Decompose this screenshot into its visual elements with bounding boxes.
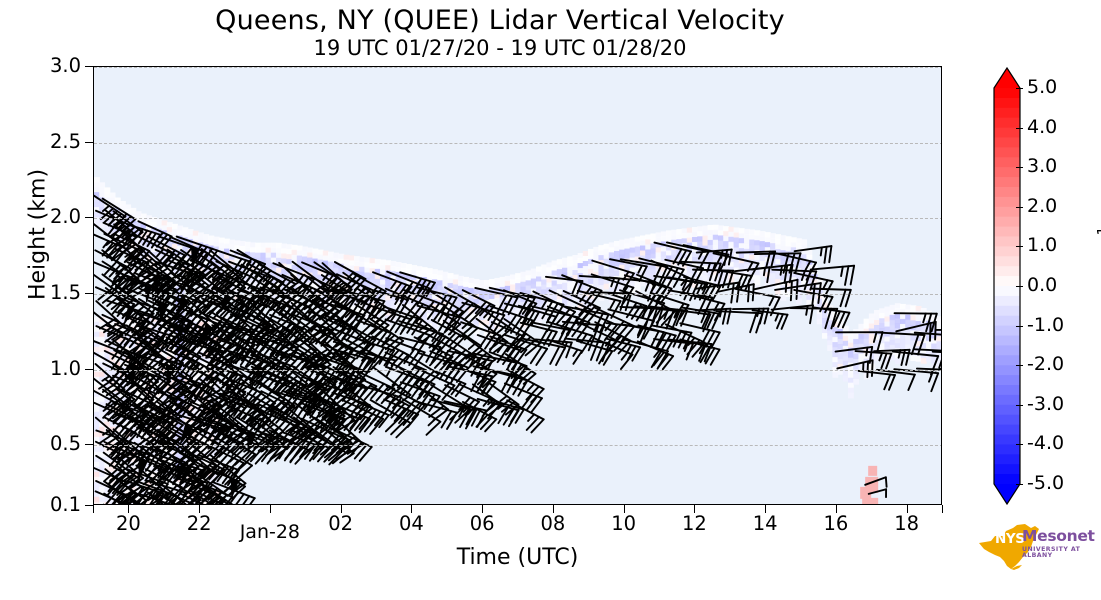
- colorbar-tick-label--5.0: -5.0: [1027, 472, 1079, 494]
- colorbar-tick-label-0.0: 0.0: [1027, 274, 1079, 296]
- gridline-y-2.5: [94, 143, 942, 144]
- y-tick-label-3.0: 3.0: [21, 54, 81, 77]
- colorbar-tick-label--1.0: -1.0: [1027, 314, 1079, 336]
- colorbar-tick-mark: [1016, 326, 1023, 327]
- colorbar-tick-label--3.0: -3.0: [1027, 393, 1079, 415]
- colorbar-label: m s-1: [1096, 193, 1101, 313]
- y-axis-label: Height (km): [26, 105, 51, 365]
- wind-barb-overlay: [94, 67, 942, 505]
- colorbar-label-base: m s: [1097, 240, 1101, 278]
- gridline-y-1.0: [94, 370, 942, 371]
- x-tick-label-04: 04: [376, 512, 446, 535]
- colorbar: 5.04.03.02.01.00.0-1.0-2.0-3.0-4.0-5.0: [988, 62, 1028, 510]
- colorbar-tick-mark: [1016, 246, 1023, 247]
- x-tick-label-18: 18: [872, 512, 942, 535]
- x-tick-label-06: 06: [447, 512, 517, 535]
- colorbar-tick-label-4.0: 4.0: [1027, 116, 1079, 138]
- y-tick-mark: [85, 66, 93, 67]
- colorbar-tick-mark: [1016, 444, 1023, 445]
- colorbar-tick-mark: [1016, 207, 1023, 208]
- logo-nys-text: NYS: [995, 531, 1025, 547]
- x-tick-mark: [942, 505, 943, 513]
- x-tick-label-02: 02: [306, 512, 376, 535]
- gridline-y-3.0: [94, 67, 942, 68]
- x-tick-label-08: 08: [518, 512, 588, 535]
- x-tick-label-14: 14: [730, 512, 800, 535]
- logo-mesonet-text: Mesonet UNIVERSITY AT ALBANY: [1022, 528, 1101, 559]
- gridline-y-1.5: [94, 294, 942, 295]
- gridline-y-0.5: [94, 445, 942, 446]
- x-tick-label-12: 12: [659, 512, 729, 535]
- colorbar-tick-mark: [1016, 405, 1023, 406]
- colorbar-tick-label-5.0: 5.0: [1027, 76, 1079, 98]
- y-tick-label-0.5: 0.5: [21, 432, 81, 455]
- logo-university-line: UNIVERSITY AT ALBANY: [1022, 547, 1101, 559]
- y-tick-mark: [85, 293, 93, 294]
- y-tick-mark: [85, 369, 93, 370]
- colorbar-tick-mark: [1016, 484, 1023, 485]
- lidar-vertical-velocity-figure: Queens, NY (QUEE) Lidar Vertical Velocit…: [0, 0, 1101, 600]
- x-tick-mark: [270, 505, 271, 513]
- logo-mesonet-word: Mesonet: [1022, 527, 1095, 545]
- colorbar-tick-mark: [1016, 286, 1023, 287]
- x-tick-label-22: 22: [164, 512, 234, 535]
- colorbar-tick-label--4.0: -4.0: [1027, 432, 1079, 454]
- colorbar-tick-label-1.0: 1.0: [1027, 234, 1079, 256]
- plot-area: [93, 66, 942, 505]
- colorbar-tick-label-2.0: 2.0: [1027, 195, 1079, 217]
- y-tick-label-0.1: 0.1: [21, 493, 81, 516]
- page-title: Queens, NY (QUEE) Lidar Vertical Velocit…: [0, 5, 1000, 36]
- colorbar-tick-mark: [1016, 88, 1023, 89]
- y-tick-mark: [85, 444, 93, 445]
- x-tick-label-20: 20: [93, 512, 163, 535]
- y-tick-mark: [85, 505, 93, 506]
- gridline-y-2.0: [94, 218, 942, 219]
- colorbar-tick-mark: [1016, 365, 1023, 366]
- colorbar-tick-label-3.0: 3.0: [1027, 155, 1079, 177]
- page-subtitle: 19 UTC 01/27/20 - 19 UTC 01/28/20: [0, 36, 1000, 60]
- x-tick-label-Jan-28: Jan-28: [235, 521, 305, 543]
- x-tick-label-16: 16: [801, 512, 871, 535]
- y-tick-mark: [85, 217, 93, 218]
- colorbar-tick-label--2.0: -2.0: [1027, 353, 1079, 375]
- y-tick-mark: [85, 142, 93, 143]
- x-tick-label-10: 10: [589, 512, 659, 535]
- colorbar-tick-mark: [1016, 128, 1023, 129]
- colorbar-tick-mark: [1016, 167, 1023, 168]
- x-axis-label: Time (UTC): [93, 545, 942, 570]
- colorbar-label-exponent: -1: [1096, 226, 1101, 240]
